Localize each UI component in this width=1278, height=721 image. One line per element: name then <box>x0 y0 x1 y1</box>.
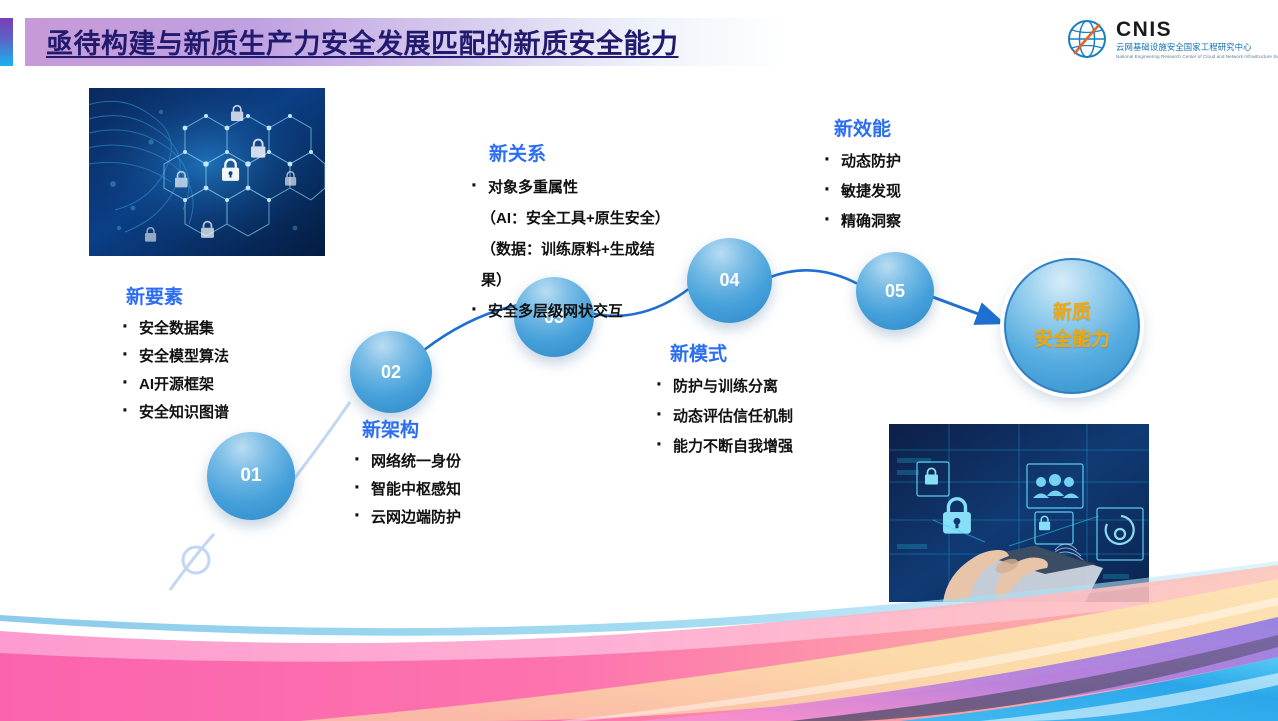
group-new-relations: 新关系 对象多重属性 （AI：安全工具+原生安全） （数据：训练原料+生成结 果… <box>467 142 670 327</box>
list-item: 云网边端防护 <box>350 504 461 532</box>
list-note: （AI：安全工具+原生安全） <box>467 203 670 234</box>
flow-node-01[interactable]: 01 <box>207 432 295 520</box>
list-note: 果） <box>467 265 670 296</box>
list-item: 动态评估信任机制 <box>652 402 793 432</box>
flow-node-02[interactable]: 02 <box>350 331 432 413</box>
security-network-image <box>89 88 325 256</box>
globe-icon <box>1066 18 1108 60</box>
bottom-decoration <box>0 561 1278 721</box>
list-item: 安全数据集 <box>118 315 229 343</box>
group-new-mode-title: 新模式 <box>670 342 793 368</box>
group-new-mode-list: 防护与训练分离 动态评估信任机制 能力不断自我增强 <box>652 372 793 462</box>
list-item: 精确洞察 <box>820 207 901 237</box>
group-new-mode: 新模式 防护与训练分离 动态评估信任机制 能力不断自我增强 <box>652 342 793 462</box>
list-item: 敏捷发现 <box>820 177 901 207</box>
target-line-2: 安全能力 <box>1034 327 1110 352</box>
flow-node-05[interactable]: 05 <box>856 252 934 330</box>
group-new-elements: 新要素 安全数据集 安全模型算法 AI开源框架 安全知识图谱 <box>118 285 229 427</box>
group-new-elements-title: 新要素 <box>126 285 229 311</box>
group-new-efficiency-list: 动态防护 敏捷发现 精确洞察 <box>820 147 901 237</box>
list-item: 对象多重属性 <box>467 172 670 203</box>
list-item: 智能中枢感知 <box>350 476 461 504</box>
group-new-elements-list: 安全数据集 安全模型算法 AI开源框架 安全知识图谱 <box>118 315 229 427</box>
list-item: 安全模型算法 <box>118 343 229 371</box>
group-new-architecture-title: 新架构 <box>362 418 461 444</box>
cnis-logo: CNIS 云网基础设施安全国家工程研究中心 National Engineeri… <box>1066 16 1266 62</box>
group-new-efficiency: 新效能 动态防护 敏捷发现 精确洞察 <box>820 117 901 237</box>
flow-node-04[interactable]: 04 <box>687 238 772 323</box>
header-accent-bar <box>0 18 13 66</box>
list-item: 能力不断自我增强 <box>652 432 793 462</box>
target-line-1: 新质 <box>1053 300 1091 325</box>
group-new-efficiency-title: 新效能 <box>834 117 901 143</box>
group-new-architecture: 新架构 网络统一身份 智能中枢感知 云网边端防护 <box>350 418 461 532</box>
logo-english-name: National Engineering Research Center of … <box>1116 53 1278 60</box>
logo-text-block: CNIS 云网基础设施安全国家工程研究中心 National Engineeri… <box>1116 19 1278 60</box>
group-new-architecture-list: 网络统一身份 智能中枢感知 云网边端防护 <box>350 448 461 532</box>
list-item: 安全多层级网状交互 <box>467 296 670 327</box>
list-item: 动态防护 <box>820 147 901 177</box>
page-title: 亟待构建与新质生产力安全发展匹配的新质安全能力 <box>46 24 786 64</box>
list-note: （数据：训练原料+生成结 <box>467 234 670 265</box>
group-new-relations-title: 新关系 <box>489 142 670 168</box>
logo-name: CNIS <box>1116 19 1278 40</box>
list-item: 安全知识图谱 <box>118 399 229 427</box>
list-item: 防护与训练分离 <box>652 372 793 402</box>
target-capability-circle[interactable]: 新质 安全能力 <box>1004 258 1140 394</box>
list-item: 网络统一身份 <box>350 448 461 476</box>
group-new-relations-list: 对象多重属性 （AI：安全工具+原生安全） （数据：训练原料+生成结 果） 安全… <box>467 172 670 327</box>
slide-canvas: 亟待构建与新质生产力安全发展匹配的新质安全能力 CNIS 云网基础设施安全国家工… <box>0 0 1278 721</box>
list-item: AI开源框架 <box>118 371 229 399</box>
logo-chinese-name: 云网基础设施安全国家工程研究中心 <box>1116 42 1278 53</box>
